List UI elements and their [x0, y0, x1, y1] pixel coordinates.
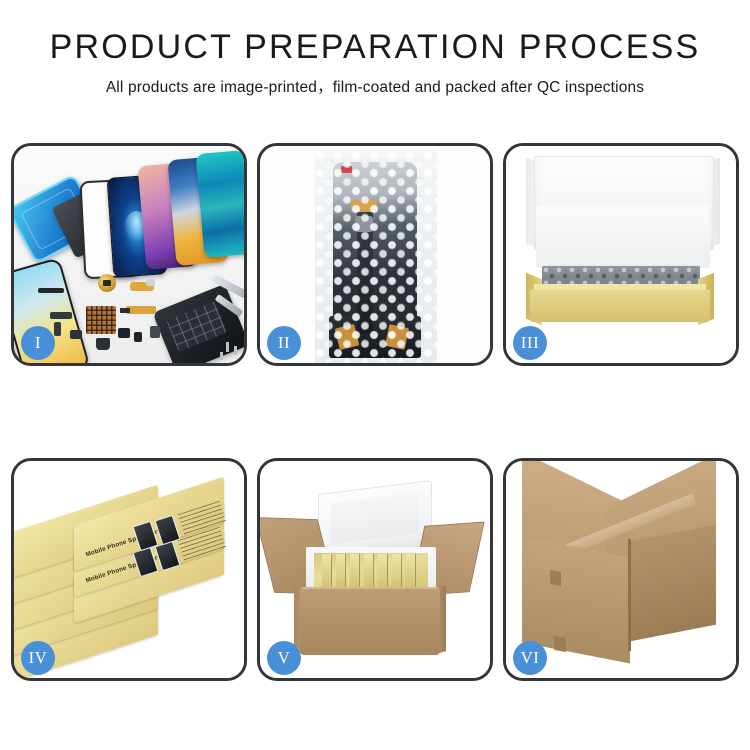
- carton-body-front: [300, 589, 440, 655]
- step-badge-1: I: [21, 326, 55, 360]
- carton-handle-slot-top: [550, 570, 561, 586]
- camera-module-a: [118, 328, 130, 338]
- process-grid: I II: [11, 143, 739, 681]
- speaker-bar-part: [38, 288, 64, 293]
- step-panel-1: I: [11, 143, 247, 366]
- step-panel-3: III: [503, 143, 739, 366]
- step-panel-5: V: [257, 458, 493, 681]
- step-badge-4: IV: [21, 641, 55, 675]
- flex-cable-part-a: [130, 282, 154, 291]
- step-badge-5: V: [267, 641, 301, 675]
- bubble-wrap-bag: [315, 150, 437, 363]
- box-front-face: [530, 290, 710, 322]
- header: PRODUCT PREPARATION PROCESS All products…: [0, 30, 750, 97]
- step-badge-6: VI: [513, 641, 547, 675]
- speaker-unit-part: [96, 338, 110, 350]
- carton-side-face: [630, 525, 716, 642]
- camera-module-b: [134, 332, 142, 342]
- step-panel-4: Mobile Phone Spare Parts Mobile Phone Sp…: [11, 458, 247, 681]
- step-panel-6: VI: [503, 458, 739, 681]
- phone-teal-wallpaper: [196, 150, 244, 258]
- screw-a: [226, 342, 229, 352]
- bracket-clip-b: [54, 322, 61, 336]
- screw-c: [220, 352, 223, 360]
- screw-b: [234, 346, 237, 355]
- vibration-motor-part: [98, 274, 116, 292]
- white-foam-sheet: [536, 206, 710, 268]
- bubble-highlight-layer: [315, 150, 437, 363]
- page-subtitle: All products are image-printed，film-coat…: [0, 75, 750, 97]
- flex-cable-part-b: [126, 306, 156, 314]
- step-badge-3: III: [513, 326, 547, 360]
- carton-vertical-edge: [628, 539, 631, 651]
- poster-root: PRODUCT PREPARATION PROCESS All products…: [0, 0, 750, 750]
- phone-opened-chassis: [152, 284, 244, 363]
- page-title: PRODUCT PREPARATION PROCESS: [0, 30, 750, 66]
- step-panel-2: II: [257, 143, 493, 366]
- step-badge-2: II: [267, 326, 301, 360]
- copper-mesh-part: [86, 306, 116, 334]
- bracket-clip-a: [50, 312, 72, 319]
- bracket-clip-c: [70, 330, 82, 339]
- carton-handle-slot-bottom: [554, 636, 566, 652]
- chip-part: [150, 326, 160, 338]
